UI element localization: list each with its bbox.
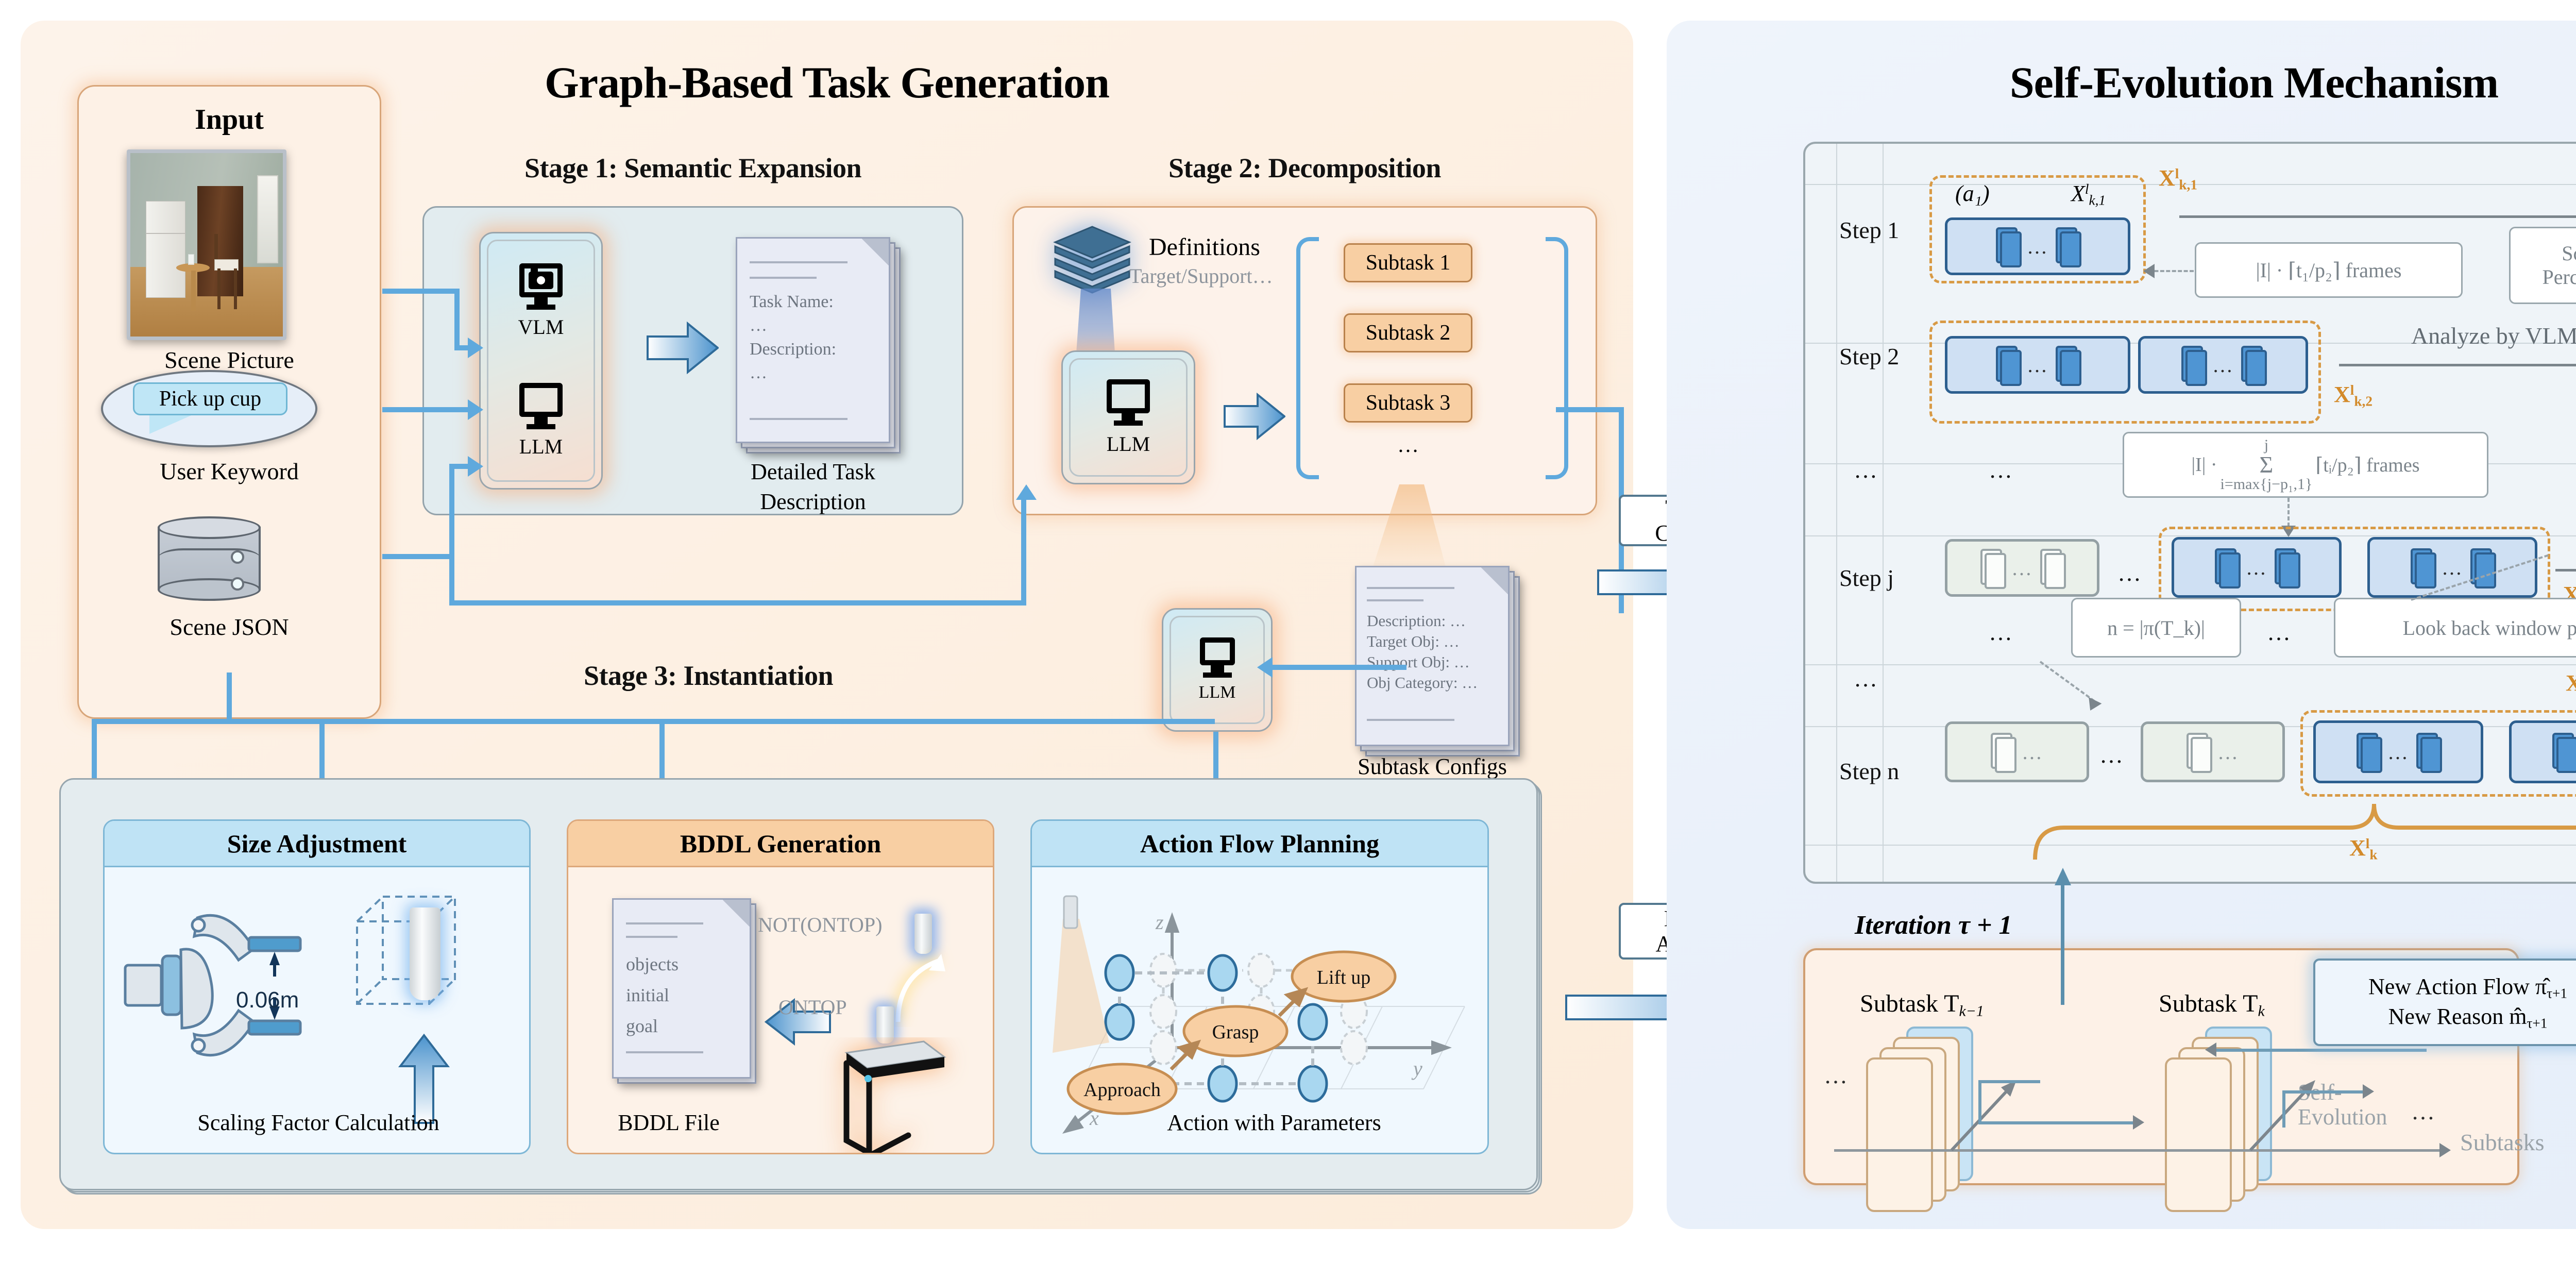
subtask-configs-caption: Subtask Configs: [1303, 753, 1561, 780]
arrowhead-subtasks: [2439, 1143, 2451, 1157]
config-line-target: Target Obj: …: [1367, 632, 1460, 651]
action-with-parameters-caption: Action with Parameters: [1094, 1109, 1454, 1136]
doc-line-dots2: …: [750, 363, 767, 383]
stage3-llm-label: LLM: [1199, 683, 1236, 702]
action-node-approach: Approach: [1083, 1079, 1161, 1101]
robot-gripper-icon: [120, 888, 336, 1084]
action-node-grasp: Grasp: [1212, 1021, 1259, 1043]
conn-json-to-stage1: [382, 554, 454, 559]
bddl-line-goal: goal: [626, 1015, 658, 1037]
input-heading: Input: [77, 103, 381, 136]
stage2-llm-label: LLM: [1107, 432, 1150, 456]
scene-json-database-icon: [158, 516, 261, 599]
vlm-monitor-camera-icon: [519, 263, 563, 297]
new-action-flow-box: New Action Flow π̂τ+1 New Reason m̂τ+1: [2313, 959, 2576, 1046]
conn-scene-to-stage1: [382, 289, 460, 294]
detailed-task-doc: Task Name: … Description: …: [736, 237, 890, 443]
stage1-model-chip: VLM LLM: [479, 232, 603, 490]
size-adjustment-caption: Scaling Factor Calculation: [105, 1109, 531, 1136]
frame-group-stepn-pale-a: …: [1945, 721, 2089, 782]
conn-subtasks-out: [1556, 407, 1623, 412]
doc-line-description: Description:: [750, 340, 836, 359]
frame-group-step2-a: …: [1945, 336, 2130, 394]
bddl-generation-body: objects initial goal NOT(ONTOP) ONTOP: [568, 867, 993, 1153]
row-dots-b: …: [1989, 618, 2012, 646]
step-label-3: …: [1854, 456, 1877, 483]
config-line-description: Description: …: [1367, 612, 1466, 630]
step-label-6: Step n: [1839, 758, 1899, 785]
vlm-label: VLM: [518, 315, 564, 339]
svg-text:z: z: [1155, 911, 1164, 934]
bddl-generation-header: BDDL Generation: [568, 821, 993, 867]
size-adjustment-panel: Size Adjustment: [103, 819, 531, 1154]
scene-perception-box: Scene Perception: [2509, 227, 2576, 304]
iteration-conn-h2: [1978, 1121, 2138, 1124]
stage2-llm-chip: LLM: [1061, 350, 1195, 484]
arrowhead-scene: [468, 338, 483, 358]
frame-group-stepn-b: …: [2509, 720, 2576, 783]
stage2-title: Stage 2: Decomposition: [1012, 152, 1597, 184]
step-label-1: Step 1: [1839, 216, 1899, 244]
conn-json-in: [449, 464, 470, 469]
formula-stepj-frames: |I| · j Σ i=max{j−p₁,1} ⌈tᵢ/p₂⌉ frames: [2123, 432, 2488, 498]
analyze-by-vlm-label: Analyze by VLM: [2411, 322, 2576, 349]
iteration-diag-arrow-1: [1947, 1077, 2025, 1154]
iteration-conn-h1: [1978, 1080, 2040, 1083]
step-label-4: Step j: [1839, 564, 1894, 592]
conn-stage2-up: [1021, 500, 1026, 603]
llm-monitor-icon: [519, 383, 563, 417]
iteration-arrowhead-up: [2053, 868, 2073, 888]
group-label-xk: Xlk: [2349, 835, 2378, 863]
user-keyword-input[interactable]: Pick up cup: [133, 382, 287, 415]
llm-monitor-icon: [1107, 379, 1150, 413]
right-panel-title: Self-Evolution Mechanism: [1667, 57, 2576, 108]
stage3-llm-chip: LLM: [1162, 608, 1273, 732]
bddl-line-initial: initial: [626, 984, 669, 1006]
bddl-doc: objects initial goal: [612, 898, 751, 1079]
inline-label-a1: (a₁): [1955, 180, 1990, 207]
subtask-more-dots: …: [1344, 433, 1472, 458]
conn-stage3-bus: [92, 719, 1215, 724]
arrowhead-keyword: [468, 399, 483, 420]
size-adjustment-body: 0.06m Scaling Factor Calculation: [105, 867, 529, 1153]
svg-text:y: y: [1411, 1057, 1422, 1080]
dash-step1-formula: [2148, 270, 2194, 272]
user-keyword-caption: User Keyword: [77, 458, 381, 485]
iteration-dots-right: …: [2411, 1098, 2435, 1125]
stepn-dots-1: …: [2099, 741, 2123, 768]
formula-lookback-window: Look back window p₁: [2334, 598, 2576, 658]
detailed-task-caption-1: Detailed Task: [679, 459, 947, 485]
stage1-flow-arrow-icon: [647, 320, 719, 376]
action-flow-body: z y x: [1032, 867, 1487, 1153]
iteration-label: Iteration τ + 1: [1855, 910, 2012, 940]
frame-group-stepn-pale-b: …: [2141, 721, 2285, 782]
llm-monitor-icon: [1200, 637, 1235, 665]
conn-scene-down: [454, 289, 460, 348]
iteration-baseline: [1834, 1149, 2442, 1152]
subtask-item-3[interactable]: Subtask 3: [1344, 383, 1472, 423]
detailed-task-caption-2: Description: [679, 489, 947, 515]
iteration-conn-v1: [1978, 1080, 1981, 1124]
doc-line-dots1: …: [750, 316, 767, 335]
subtask-item-1[interactable]: Subtask 1: [1344, 243, 1472, 282]
llm-model: LLM: [519, 383, 563, 459]
definitions-subtitle: Target/Support…: [1129, 264, 1273, 288]
formula-n-definition: n = |π(T_k)|: [2071, 598, 2241, 658]
arrowhead-newflow-in: [2205, 1042, 2216, 1057]
bddl-line-objects: objects: [626, 953, 679, 975]
gripper-measurement-label: 0.06m: [236, 987, 299, 1013]
speech-bubble-tail-icon: [149, 414, 194, 434]
subtasks-axis-label: Subtasks: [2460, 1129, 2545, 1156]
arrowhead-prev-to-cur: [2133, 1115, 2144, 1130]
iteration-dots-left: …: [1824, 1062, 1848, 1089]
side-table-icon: [816, 1037, 980, 1154]
predicate-ontop-label: ONTOP: [778, 995, 847, 1019]
arrowhead-json: [468, 456, 483, 477]
iteration-conn-v2: [2282, 1090, 2285, 1128]
frame-group-stepn-a: …: [2313, 720, 2483, 783]
subtask-item-2[interactable]: Subtask 2: [1344, 313, 1472, 352]
newflow-conn-h: [2210, 1049, 2427, 1052]
conn-keyword-to-stage1: [382, 407, 470, 412]
stage3-llm-model: LLM: [1199, 637, 1236, 702]
conn-json-down: [449, 554, 454, 606]
arrowhead-cur-next: [2363, 1084, 2374, 1099]
scene-json-caption: Scene JSON: [77, 613, 381, 641]
group-label-xk2: Xlk,2: [2334, 381, 2372, 410]
subtask-prev-label: Subtask Tk−1: [1860, 989, 1984, 1020]
arrow-step2-to-m2: [2339, 364, 2576, 366]
scene-picture-thumbnail: [127, 149, 286, 340]
subtask-brace-left: [1296, 237, 1319, 479]
step-label-2: Step 2: [1839, 343, 1899, 370]
doc-line-task-name: Task Name:: [750, 292, 834, 312]
step-label-5: …: [1854, 665, 1877, 692]
action-flow-header: Action Flow Planning: [1032, 821, 1487, 867]
formula-step1-frames: |I| · ⌈t₁/p₂⌉ frames: [2195, 242, 2463, 298]
group-label-xk1: Xlk,1: [2159, 165, 2197, 193]
arrow-step1-to-m1: [2179, 215, 2576, 218]
action-flow-planning-panel: Action Flow Planning: [1030, 819, 1489, 1154]
group-label-xkn: Xlk,n: [2566, 670, 2576, 698]
bddl-generation-panel: BDDL Generation objects initial goal NOT…: [567, 819, 994, 1154]
figure-canvas: Graph-Based Task Generation Input Scene …: [0, 0, 2576, 1278]
llm-label: LLM: [519, 434, 563, 459]
definitions-title: Definitions: [1149, 233, 1260, 261]
frame-group-step2-b: …: [2138, 336, 2308, 394]
arrowhead-llm-in: [1257, 657, 1273, 678]
conn-json-up: [449, 464, 454, 557]
arrow-stepj-to-mj: [2555, 569, 2576, 571]
frame-group-step1: …: [1945, 217, 2130, 275]
subtask-config-beam-icon: [1350, 484, 1473, 577]
subtask-cur-label: Subtask Tk: [2159, 989, 2265, 1020]
vlm-model: VLM: [518, 263, 564, 339]
subtask-config-doc: Description: … Target Obj: … Support Obj…: [1355, 566, 1510, 746]
orange-brace-xk: [2030, 794, 2576, 861]
config-line-category: Obj Category: …: [1367, 674, 1478, 692]
iteration-conn-h3: [2282, 1090, 2370, 1094]
frame-group-stepj-pale: …: [1945, 539, 2099, 597]
new-action-flow-line2: New Reason m̂τ+1: [2388, 1002, 2548, 1032]
conn-json-to-stage2: [449, 600, 1026, 606]
stage2-flow-arrow-icon: [1224, 392, 1285, 441]
iteration-arrow-up: [2061, 876, 2064, 1005]
scene-picture-caption: Scene Picture: [77, 346, 381, 374]
row-dots-a: …: [1989, 456, 2012, 483]
bddl-file-caption: BDDL File: [567, 1109, 883, 1136]
frame-group-stepj-a: …: [2172, 537, 2342, 598]
predicate-not-ontop-label: NOT(ONTOP): [758, 913, 882, 937]
subtask-brace-right: [1546, 237, 1568, 479]
arrowhead-stage2-llm: [1016, 484, 1037, 500]
cup-3d-icon: [410, 907, 440, 1000]
inline-label-x-step1: Xlk,1: [2071, 180, 2106, 209]
row-dots-c: …: [2267, 618, 2291, 646]
size-adjustment-header: Size Adjustment: [105, 821, 529, 867]
stage3-title: Stage 3: Instantiation: [412, 660, 1005, 692]
action-node-liftup: Lift up: [1317, 967, 1370, 988]
stage1-title: Stage 1: Semantic Expansion: [422, 152, 963, 184]
stepj-dots: …: [2117, 559, 2141, 586]
conn-configs-to-llm: [1273, 665, 1406, 670]
stage2-llm-model: LLM: [1107, 379, 1150, 456]
conn-input-down: [227, 672, 232, 719]
arrowhead-step1-formula: [2143, 264, 2155, 278]
new-action-flow-line1: New Action Flow π̂τ+1: [2368, 972, 2567, 1002]
